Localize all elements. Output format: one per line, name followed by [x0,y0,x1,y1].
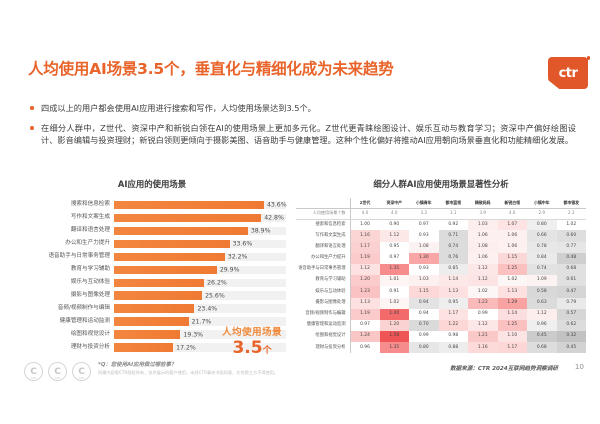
certification-badges: CCTRCCTRCCTR [24,362,91,381]
table-cell: 0.71 [439,230,469,241]
logo-text: ctr [548,66,588,81]
table-cell: 1.15 [409,286,439,297]
bar-fill [114,317,189,325]
bullet-list: 四成以上的用户都会使用AI应用进行搜索和写作，人均使用场景达到3.5个。 在细分… [28,102,576,154]
bar-fill [114,253,225,261]
table-cell: 0.74 [527,264,557,275]
bar-fill [114,343,173,351]
bullet-text: 在细分人群中，Z世代、资深中产和新锐白领在AI的使用场景上更加多元化。Z世代更青… [41,123,576,146]
table-cell: 0.70 [409,320,439,331]
certification-badge-icon: CCTR [24,362,43,381]
table-cell: 0.95 [439,298,469,309]
table-cell: 1.12 [527,309,557,320]
badge-sub-label: CTR [49,378,66,381]
bar-row: 摄影与图像处理25.6% [18,290,286,302]
table-header-row: Z世代资深中产小镇青年都市蓝领精致妈妈新锐白领小镇中年都市银发 [296,198,586,208]
table-cell: 4.0 [350,208,380,219]
bar-row: 音频/视频制作与编辑23.4% [18,303,286,315]
table-base-row: 人均使用场景个数4.04.03.33.13.94.02.92.3 [296,208,586,219]
table-cell: 3.3 [409,208,439,219]
table-cell: 1.58 [380,331,410,342]
bar-value-label: 38.9% [248,227,271,234]
table-cell: 0.95 [380,242,410,253]
bar-chart-panel: AI应用的使用场景 搜索和信息检索43.6%写作和文案生成42.8%翻译和语言处… [18,178,286,360]
bar-category-label: 音频/视频制作与编辑 [18,306,114,312]
table-cell: 3.9 [468,208,498,219]
table-row: 写作和文案生成1.161.120.930.711.061.060.660.60 [296,230,586,241]
bar-value-label: 25.6% [202,292,225,299]
bar-category-label: 搜索和信息检索 [18,202,114,208]
table-cell: 1.12 [468,320,498,331]
bar-category-label: 绘图和视觉设计 [18,332,114,338]
bar-value-label: 43.6% [264,201,287,208]
callout-unit: 个 [263,346,272,356]
slide-header: 人均使用AI场景3.5个，垂直化与精细化成为未来趋势 ctr [0,0,600,108]
table-cell: 1.35 [380,264,410,275]
table-cell: 2.9 [527,208,557,219]
page-number: 10 [575,362,584,371]
table-cell: 1.02 [557,219,587,230]
table-cell: 0.74 [439,242,469,253]
table-cell: 0.58 [527,286,557,297]
table-cell: 1.14 [439,275,469,286]
table-cell: 1.13 [498,286,528,297]
bullet-item: 在细分人群中，Z世代、资深中产和新锐白领在AI的使用场景上更加多元化。Z世代更青… [28,122,576,147]
bar-row: 语音助手与日常事务管理32.2% [18,251,286,263]
table-title: 细分人群AI应用使用场景显著性分析 [296,178,586,190]
table-cell: 0.93 [409,230,439,241]
table-row-label: 绘图和视觉设计 [296,331,350,342]
bar-track: 25.6% [114,291,286,299]
table-cell: 0.57 [557,309,587,320]
table-cell: 0.96 [350,342,380,353]
table-row-label: 语音助手与日常事务管理 [296,264,350,275]
table-cell: 1.06 [498,230,528,241]
table-cell: 0.97 [409,219,439,230]
table-cell: 1.02 [468,286,498,297]
table-cell: 1.17 [350,242,380,253]
bar-category-label: 摄影与图像处理 [18,293,114,299]
bar-row: 写作和文案生成42.8% [18,212,286,224]
bar-row: 翻译和语言处理38.9% [18,225,286,237]
table-cell: 1.24 [350,331,380,342]
table-cell: 1.03 [468,219,498,230]
table-row-label: 音频/视频制作与编辑 [296,309,350,320]
table-column-header: 都市银发 [557,198,587,208]
table-column-header: 小镇青年 [409,198,439,208]
bar-row: 健康管理和运动监测21.7% [18,316,286,328]
table-cell: 1.25 [498,320,528,331]
bar-category-label: 翻译和语言处理 [18,228,114,234]
table-row: 搜索和信息检索1.000.900.970.921.031.070.801.02 [296,219,586,230]
badge-sub-label: CTR [73,378,90,381]
table-cell: 1.23 [468,298,498,309]
bar-category-label: 语音助手与日常事务管理 [18,254,114,260]
callout-label: 人均使用场景 [222,328,282,338]
table-cell: 1.08 [468,242,498,253]
table-cell: 0.45 [557,342,587,353]
bar-value-label: 29.9% [217,266,240,273]
page-title: 人均使用AI场景3.5个，垂直化与精细化成为未来趋势 [28,57,394,79]
table-cell: 0.80 [409,342,439,353]
table-row: 娱乐与互动体验1.230.911.151.131.021.130.580.47 [296,286,586,297]
table-cell: 1.12 [468,275,498,286]
table-cell: 0.47 [557,286,587,297]
bar-value-label: 42.8% [261,214,284,221]
table-row-label: 健康管理和运动监测 [296,320,350,331]
table-cell: 1.00 [350,219,380,230]
table-cell: 3.1 [439,208,469,219]
table-cell: 1.30 [409,253,439,264]
table-row-label: 搜索和信息检索 [296,219,350,230]
table-cell: 0.76 [439,253,469,264]
table-row-label: 娱乐与互动体验 [296,286,350,297]
table-cell: 0.98 [439,331,469,342]
bar-row: 娱乐与互动体验26.2% [18,277,286,289]
bar-value-label: 17.2% [173,344,196,351]
table-cell: 1.13 [439,286,469,297]
table-cell: 0.68 [527,342,557,353]
table-cell: 0.99 [468,309,498,320]
bar-track: 33.6% [114,240,286,248]
table-cell: 1.29 [498,298,528,309]
table-cell: 1.06 [498,242,528,253]
disclaimer-text: 所属内容版CTR版权所有，仅供展示的客户使用，未经CTR事先书面同意，任何第三方… [98,370,398,376]
table-cell: 1.06 [468,230,498,241]
slide-root: 人均使用AI场景3.5个，垂直化与精细化成为未来趋势 ctr 四成以上的用户都会… [0,0,600,424]
table-column-header: 都市蓝领 [439,198,469,208]
table-cell: 4.0 [498,208,528,219]
table-cell: 0.90 [380,219,410,230]
table-cell: 0.80 [527,219,557,230]
bullet-item: 四成以上的用户都会使用AI应用进行搜索和写作，人均使用场景达到3.5个。 [28,102,576,115]
table-cell: 1.19 [350,253,380,264]
data-source: 数据来源：CTR 2024互联网趋势洞察调研 [450,364,558,372]
bar-category-label: 写作和文案生成 [18,215,114,221]
table-cell: 0.92 [439,219,469,230]
table-cell: 1.12 [380,230,410,241]
table-row: 语音助手与日常事务管理1.121.350.930.851.121.250.740… [296,264,586,275]
callout-number: 3.5 [232,338,262,358]
table-cell: 1.10 [498,331,528,342]
bar-track: 21.7% [114,317,286,325]
table-row: 理财与投资分析0.961.350.800.881.161.170.680.45 [296,342,586,353]
bar-value-label: 33.6% [230,240,253,247]
bar-value-label: 32.2% [225,253,248,260]
table-cell: 0.79 [557,298,587,309]
table-cell: 1.12 [468,264,498,275]
table-cell: 1.22 [439,320,469,331]
table-cell: 0.48 [557,253,587,264]
table-cell: 0.91 [380,286,410,297]
bar-fill [114,201,264,209]
table-cell: 0.97 [380,253,410,264]
table-cell: 1.01 [380,275,410,286]
significance-table-panel: 细分人群AI应用使用场景显著性分析 Z世代资深中产小镇青年都市蓝领精致妈妈新锐白… [296,178,586,360]
table-cell: 0.84 [527,253,557,264]
bar-value-label: 21.7% [189,318,212,325]
table-row-label: 教育与学习辅助 [296,275,350,286]
table-column-header: 资深中产 [380,198,410,208]
table-column-header: 精致妈妈 [468,198,498,208]
chart-title: AI应用的使用场景 [18,178,286,190]
bar-track: 42.8% [114,214,286,222]
table-cell: 0.78 [527,242,557,253]
table-column-header: Z世代 [350,198,380,208]
bar-category-label: 教育与学习辅助 [18,267,114,273]
table-cell: 0.66 [527,230,557,241]
table-cell: 1.02 [380,298,410,309]
bar-fill [114,266,217,274]
table-cell: 0.99 [409,331,439,342]
table-cell: 1.17 [439,309,469,320]
ctr-logo: ctr [548,57,588,89]
certification-badge-icon: CCTR [48,362,67,381]
table-cell: 1.17 [498,342,528,353]
bar-row: 教育与学习辅助29.9% [18,264,286,276]
table-cell: 0.61 [557,275,587,286]
table-row-label: 摄影与图像处理 [296,298,350,309]
bar-category-label: 办公和生产力提升 [18,241,114,247]
bar-fill [114,304,194,312]
bar-fill [114,227,248,235]
bar-track: 32.2% [114,253,286,261]
table-cell: 4.0 [380,208,410,219]
table-row-label: 翻译和语言处理 [296,242,350,253]
bar-row: 办公和生产力提升33.6% [18,238,286,250]
bar-fill [114,279,204,287]
bar-value-label: 23.4% [194,305,217,312]
bar-value-label: 19.3% [180,331,203,338]
table-cell: 0.94 [409,298,439,309]
table-cell: 1.14 [498,309,528,320]
table-cell: 0.96 [527,320,557,331]
table-cell: 1.08 [409,242,439,253]
callout-value: 3.5个 [222,340,282,357]
bar-fill [114,330,180,338]
table-cell: 1.35 [380,342,410,353]
certification-badge-icon: CCTR [72,362,91,381]
bar-track: 29.9% [114,266,286,274]
table-corner-cell [296,198,350,208]
bullet-text: 四成以上的用户都会使用AI应用进行搜索和写作，人均使用场景达到3.5个。 [41,103,316,113]
table-cell: 1.40 [380,309,410,320]
table-cell: 1.20 [350,275,380,286]
table-cell: 0.32 [557,331,587,342]
table-cell: 0.85 [439,264,469,275]
table-cell: 1.13 [350,298,380,309]
bar-track: 26.2% [114,279,286,287]
table-row: 摄影与图像处理1.131.020.940.951.231.290.630.79 [296,298,586,309]
logo-dot [587,56,591,60]
table-row: 音频/视频制作与编辑1.191.400.941.170.991.141.120.… [296,309,586,320]
bullet-dot-icon [30,126,34,130]
table-cell: 0.62 [557,320,587,331]
table-cell: 0.93 [409,264,439,275]
average-callout: 人均使用场景 3.5个 [222,328,282,357]
table-cell: 1.06 [468,253,498,264]
table-row-label: 理财与投资分析 [296,342,350,353]
bar-fill [114,214,261,222]
significance-table: Z世代资深中产小镇青年都市蓝领精致妈妈新锐白领小镇中年都市银发人均使用场景个数4… [296,198,586,353]
table-cell: 1.21 [468,331,498,342]
table-cell: 0.94 [409,309,439,320]
table-cell: 1.07 [498,219,528,230]
table-cell: 0.45 [527,331,557,342]
bar-row: 搜索和信息检索43.6% [18,199,286,211]
bar-fill [114,240,230,248]
table-row-label: 人均使用场景个数 [296,208,350,219]
table-row: 办公和生产力提升1.190.971.300.761.061.150.840.48 [296,253,586,264]
bar-category-label: 娱乐与互动体验 [18,280,114,286]
table-cell: 2.3 [557,208,587,219]
table-cell: 0.97 [350,320,380,331]
table-wrapper: Z世代资深中产小镇青年都市蓝领精致妈妈新锐白领小镇中年都市银发人均使用场景个数4… [296,198,586,353]
table-cell: 0.60 [557,230,587,241]
table-cell: 1.02 [498,275,528,286]
table-cell: 0.77 [557,242,587,253]
table-row: 翻译和语言处理1.170.951.080.741.081.060.780.77 [296,242,586,253]
bar-category-label: 理财与投资分析 [18,345,114,351]
table-row-label: 办公和生产力提升 [296,253,350,264]
table-cell: 0.68 [557,264,587,275]
bar-fill [114,291,202,299]
table-column-header: 小镇中年 [527,198,557,208]
table-cell: 1.16 [468,342,498,353]
bullet-dot-icon [30,106,34,110]
question-note: *Q：您使用AI应用做过哪些事？ [98,360,176,368]
table-cell: 1.25 [498,264,528,275]
table-cell: 1.12 [350,264,380,275]
table-column-header: 新锐白领 [498,198,528,208]
bar-track: 38.9% [114,227,286,235]
table-cell: 1.16 [350,230,380,241]
table-cell: 0.88 [439,342,469,353]
table-cell: 1.19 [350,309,380,320]
table-row: 健康管理和运动监测0.971.200.701.221.121.250.960.6… [296,320,586,331]
table-row: 教育与学习辅助1.201.011.031.141.121.021.090.61 [296,275,586,286]
table-row-label: 写作和文案生成 [296,230,350,241]
table-cell: 1.20 [380,320,410,331]
table-row: 绘图和视觉设计1.241.580.990.981.211.100.450.32 [296,331,586,342]
bar-value-label: 26.2% [204,279,227,286]
bar-track: 23.4% [114,304,286,312]
badge-sub-label: CTR [25,378,42,381]
bar-category-label: 健康管理和运动监测 [18,319,114,325]
table-cell: 0.63 [527,298,557,309]
bar-track: 43.6% [114,201,286,209]
table-cell: 1.09 [527,275,557,286]
table-cell: 1.15 [498,253,528,264]
table-cell: 1.03 [409,275,439,286]
table-cell: 1.23 [350,286,380,297]
